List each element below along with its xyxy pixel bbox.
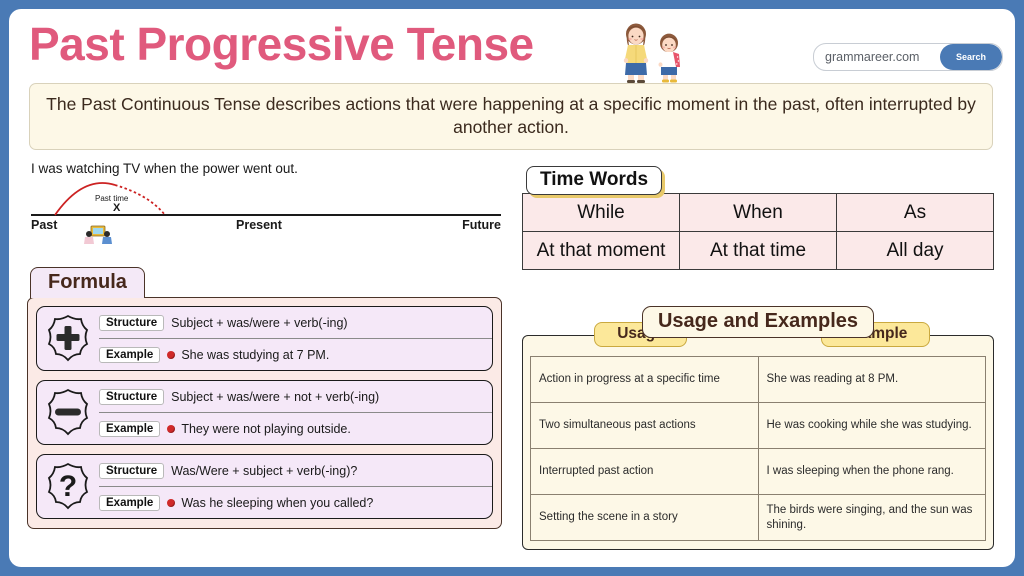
formula-lines: Structure Subject + was/were + not + ver…	[99, 381, 492, 444]
time-word-cell: At that moment	[523, 232, 680, 270]
content-card: Past Progressive Tense	[9, 9, 1015, 567]
usage-table: Action in progress at a specific time Sh…	[530, 356, 986, 541]
example-text: They were not playing outside.	[181, 422, 351, 436]
structure-text: Subject + was/were + not + verb(-ing)	[171, 390, 379, 404]
page-title: Past Progressive Tense	[29, 17, 534, 71]
time-word-cell: All day	[837, 232, 994, 270]
formula-badge	[37, 381, 99, 444]
example-line: Example They were not playing outside.	[99, 413, 492, 444]
time-word-cell: At that time	[680, 232, 837, 270]
timeline-label-present: Present	[236, 218, 282, 232]
formula-badge	[37, 307, 99, 370]
example-label: Example	[99, 421, 160, 437]
table-row: While When As	[523, 194, 994, 232]
usage-tab: Usage and Examples	[642, 306, 874, 338]
minus-icon	[43, 388, 93, 438]
formula-body: Structure Subject + was/were + verb(-ing…	[27, 297, 502, 529]
structure-text: Subject + was/were + verb(-ing)	[171, 316, 347, 330]
search-button[interactable]: Search	[940, 44, 1002, 70]
bullet-dot-icon	[167, 351, 175, 359]
formula-badge: ?	[37, 455, 99, 518]
structure-label: Structure	[99, 315, 164, 331]
example-cell: I was sleeping when the phone rang.	[758, 449, 986, 495]
time-word-cell: When	[680, 194, 837, 232]
past-time-marker: X	[113, 202, 120, 214]
bullet-dot-icon	[167, 499, 175, 507]
structure-line: Structure Was/Were + subject + verb(-ing…	[99, 455, 492, 487]
formula-row-affirmative: Structure Subject + was/were + verb(-ing…	[36, 306, 493, 371]
structure-label: Structure	[99, 389, 164, 405]
example-text: She was studying at 7 PM.	[181, 348, 329, 362]
formula-section: Formula Structure Subject + was/were +	[27, 267, 502, 529]
table-row: Two simultaneous past actions He was coo…	[531, 403, 986, 449]
two-people-illustration	[609, 21, 693, 83]
timeline-label-past: Past	[31, 218, 57, 232]
example-label: Example	[99, 495, 160, 511]
structure-label: Structure	[99, 463, 164, 479]
intro-description: The Past Continuous Tense describes acti…	[29, 83, 993, 150]
usage-cell: Two simultaneous past actions	[531, 403, 759, 449]
search-input[interactable]: grammareer.com	[814, 50, 940, 64]
usage-section: Usage and Examples Usage Example Action …	[522, 306, 994, 550]
table-row: At that moment At that time All day	[523, 232, 994, 270]
table-row: Action in progress at a specific time Sh…	[531, 357, 986, 403]
usage-body: Usage Example Action in progress at a sp…	[522, 335, 994, 550]
time-word-cell: As	[837, 194, 994, 232]
formula-lines: Structure Subject + was/were + verb(-ing…	[99, 307, 492, 370]
usage-cell: Action in progress at a specific time	[531, 357, 759, 403]
time-word-cell: While	[523, 194, 680, 232]
formula-lines: Structure Was/Were + subject + verb(-ing…	[99, 455, 492, 518]
example-label: Example	[99, 347, 160, 363]
example-cell: She was reading at 8 PM.	[758, 357, 986, 403]
example-cell: The birds were singing, and the sun was …	[758, 495, 986, 541]
bullet-dot-icon	[167, 425, 175, 433]
poster-frame: Past Progressive Tense	[0, 0, 1024, 576]
time-words-section: Time Words While When As At that moment …	[522, 166, 994, 270]
structure-line: Structure Subject + was/were + verb(-ing…	[99, 307, 492, 339]
formula-tab: Formula	[30, 267, 145, 298]
table-row: Setting the scene in a story The birds w…	[531, 495, 986, 541]
example-text: Was he sleeping when you called?	[181, 496, 373, 510]
svg-text:?: ?	[59, 470, 77, 503]
formula-row-question: ? Structure Was/Were + subject + verb(-i…	[36, 454, 493, 519]
timeline-label-future: Future	[462, 218, 501, 232]
structure-line: Structure Subject + was/were + not + ver…	[99, 381, 492, 413]
past-time-label: Past time	[95, 194, 128, 203]
structure-text: Was/Were + subject + verb(-ing)?	[171, 464, 357, 478]
table-row: Interrupted past action I was sleeping w…	[531, 449, 986, 495]
question-icon: ?	[43, 462, 93, 512]
plus-icon	[43, 314, 93, 364]
example-line: Example She was studying at 7 PM.	[99, 339, 492, 370]
example-cell: He was cooking while she was studying.	[758, 403, 986, 449]
tv-watching-icon	[83, 225, 113, 245]
example-line: Example Was he sleeping when you called?	[99, 487, 492, 518]
search-bar[interactable]: grammareer.com Search	[813, 43, 1003, 71]
usage-cell: Interrupted past action	[531, 449, 759, 495]
time-words-table: While When As At that moment At that tim…	[522, 193, 994, 270]
formula-row-negative: Structure Subject + was/were + not + ver…	[36, 380, 493, 445]
time-words-tab: Time Words	[526, 166, 662, 195]
timeline-diagram: Past time X Past Present Future	[31, 181, 501, 243]
usage-cell: Setting the scene in a story	[531, 495, 759, 541]
timeline-sentence: I was watching TV when the power went ou…	[31, 161, 298, 176]
